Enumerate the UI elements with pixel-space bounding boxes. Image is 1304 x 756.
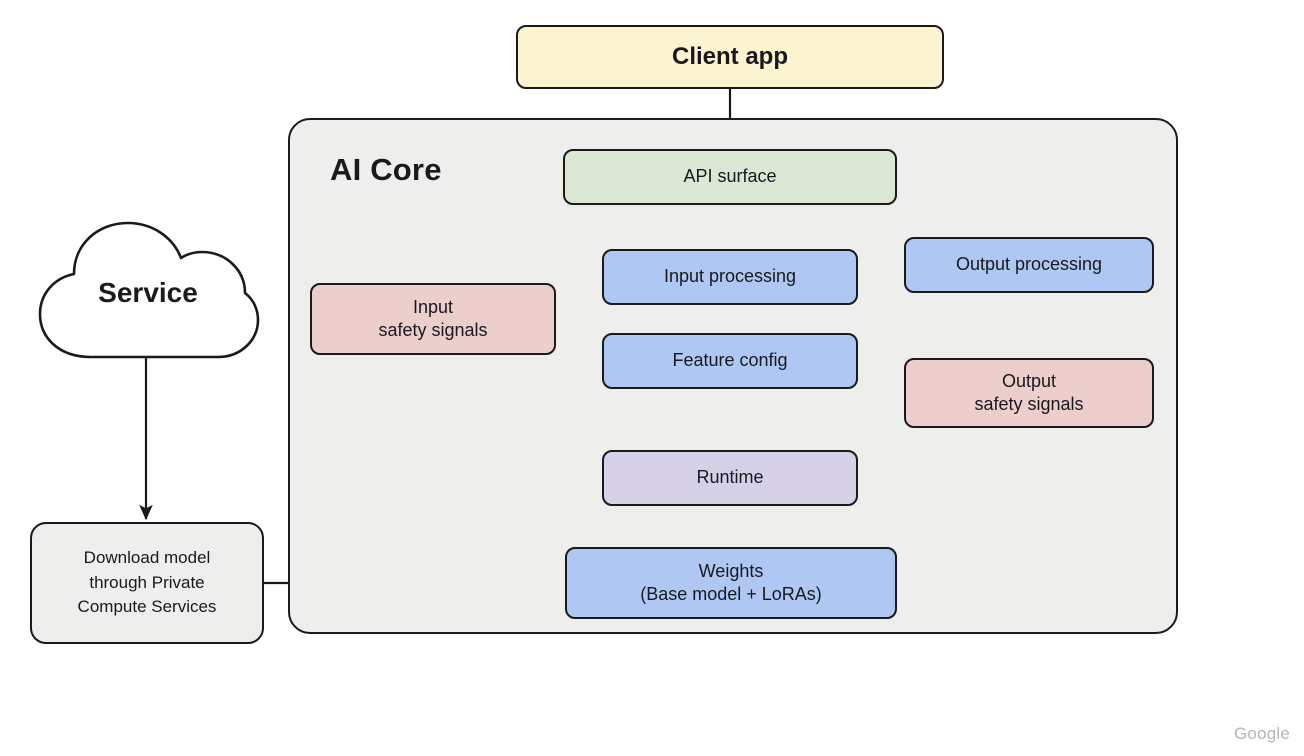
node-weights[interactable]: Weights (Base model + LoRAs) [565,547,897,619]
node-client-app[interactable]: Client app [516,25,944,89]
diagram-canvas: AI Core [0,0,1304,756]
node-input-safety-signals[interactable]: Input safety signals [310,283,556,355]
node-api-surface[interactable]: API surface [563,149,897,205]
node-feature-config[interactable]: Feature config [602,333,858,389]
node-runtime[interactable]: Runtime [602,450,858,506]
node-download-model[interactable]: Download model through Private Compute S… [30,522,264,644]
node-input-processing[interactable]: Input processing [602,249,858,305]
node-output-safety-signals[interactable]: Output safety signals [904,358,1154,428]
ai-core-title: AI Core [330,152,442,188]
service-cloud-label: Service [36,277,260,309]
node-output-processing[interactable]: Output processing [904,237,1154,293]
google-watermark: Google [1234,724,1290,744]
